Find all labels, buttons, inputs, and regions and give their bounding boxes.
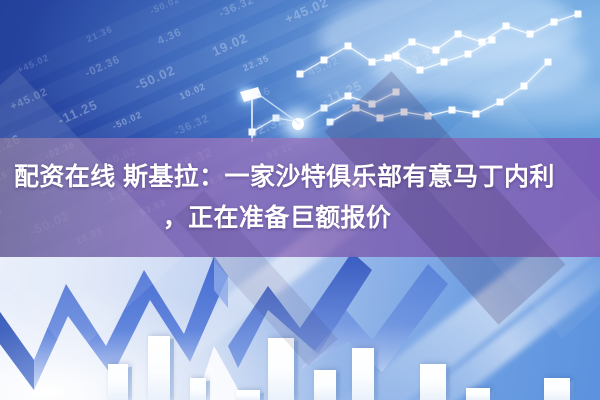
- chart-node: [449, 107, 456, 114]
- headline-line-1: 配资在线 斯基拉：一家沙特俱乐部有意马丁内利: [0, 157, 600, 198]
- chart-node: [575, 11, 582, 18]
- chart-node: [369, 59, 376, 66]
- chart-node: [345, 43, 352, 50]
- chart-node: [551, 19, 558, 26]
- chart-node: [521, 83, 528, 90]
- chart-node: [409, 39, 416, 46]
- chart-node: [393, 53, 400, 60]
- chart-node: [527, 31, 534, 38]
- chart-node: [321, 57, 328, 64]
- chart-node: [321, 105, 328, 112]
- chart-node: [345, 93, 352, 100]
- chart-line: [388, 14, 578, 58]
- headline-line-2: ，正在准备巨额报价: [0, 198, 600, 239]
- bar-column: [352, 348, 374, 400]
- chart-node: [385, 55, 392, 62]
- chart-node: [545, 59, 552, 66]
- bar-column: [314, 370, 336, 400]
- bar-column: [268, 338, 294, 400]
- bar-column: [236, 390, 260, 400]
- chart-node: [489, 37, 496, 44]
- news-banner: -02.36-11.25+45.0221.36-50.0245.02-09.35…: [0, 0, 600, 400]
- headline-band: 配资在线 斯基拉：一家沙特俱乐部有意马丁内利 ，正在准备巨额报价: [0, 138, 600, 257]
- lamp-icon: [228, 84, 308, 144]
- chart-node: [455, 31, 462, 38]
- chart-node: [433, 47, 440, 54]
- chart-node: [479, 39, 486, 46]
- bar-column: [148, 336, 170, 400]
- chart-node: [417, 67, 424, 74]
- bar-column: [108, 364, 128, 400]
- chart-node: [297, 71, 304, 78]
- bar-column: [466, 388, 490, 400]
- bar-column: [190, 378, 206, 400]
- chart-node: [503, 23, 510, 30]
- chart-node: [465, 51, 472, 58]
- bar-column: [544, 378, 570, 400]
- bar-column: [420, 364, 446, 400]
- chart-node: [441, 59, 448, 66]
